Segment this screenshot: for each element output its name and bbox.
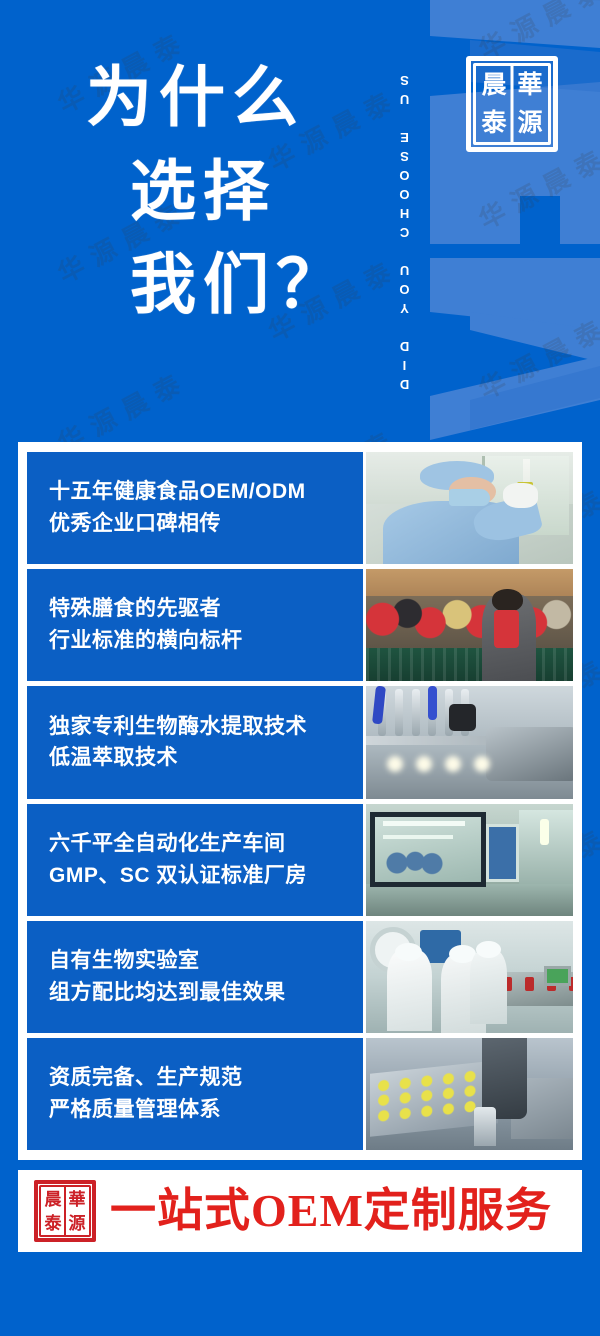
feature-textbox-5: 自有生物实验室 组方配比均达到最佳效果 xyxy=(27,921,363,1033)
photo-filling-line xyxy=(366,686,573,798)
features-panel: 十五年健康食品OEM/ODM 优秀企业口碑相传 特殊膳食的先驱者 行业标准的横向… xyxy=(18,442,582,1160)
feature-textbox-1: 十五年健康食品OEM/ODM 优秀企业口碑相传 xyxy=(27,452,363,564)
feature-textbox-3: 独家专利生物酶水提取技术 低温萃取技术 xyxy=(27,686,363,798)
feature-textbox-2: 特殊膳食的先驱者 行业标准的横向标杆 xyxy=(27,569,363,681)
feature-3-line-1: 独家专利生物酶水提取技术 xyxy=(49,711,341,743)
feature-textbox-4: 六千平全自动化生产车间 GMP、SC 双认证标准厂房 xyxy=(27,804,363,916)
photo-blister-packing xyxy=(366,1038,573,1150)
feature-row-1: 十五年健康食品OEM/ODM 优秀企业口碑相传 xyxy=(27,452,573,564)
feature-4-line-1: 六千平全自动化生产车间 xyxy=(49,828,341,860)
feature-row-4: 六千平全自动化生产车间 GMP、SC 双认证标准厂房 xyxy=(27,804,573,916)
feature-row-5: 自有生物实验室 组方配比均达到最佳效果 xyxy=(27,921,573,1033)
seal-divider xyxy=(511,65,514,143)
photo-lab-technician xyxy=(366,452,573,564)
title-line-3: 我们？ xyxy=(130,239,386,333)
footer-seal-char-bottom-left: 泰 xyxy=(41,1211,65,1235)
footer-seal-divider xyxy=(64,1187,66,1235)
company-seal-logo: 晨 華 泰 源 xyxy=(466,56,558,152)
promotional-poster: 华源晨泰 华源晨泰 华源晨泰 华源晨泰 华源晨泰 华源晨泰 华源晨泰 华源晨泰 … xyxy=(0,0,600,1336)
feature-1-line-2: 优秀企业口碑相传 xyxy=(49,508,341,540)
feature-photo-4 xyxy=(366,804,573,916)
title-line-2: 选择 xyxy=(130,146,386,240)
feature-6-line-2: 严格质量管理体系 xyxy=(49,1094,341,1126)
feature-3-line-2: 低温萃取技术 xyxy=(49,742,341,774)
title-line-1: 为什么 xyxy=(86,52,386,146)
feature-row-6: 资质完备、生产规范 严格质量管理体系 xyxy=(27,1038,573,1150)
page-title: 为什么 选择 我们？ xyxy=(86,52,386,333)
feature-photo-5 xyxy=(366,921,573,1033)
footer-seal-char-top-left: 晨 xyxy=(41,1187,65,1211)
poster-header: 为什么 选择 我们？ DID YOU CHOOSE US 晨 華 泰 源 xyxy=(0,0,600,440)
footer-slogan-text: 一站式OEM定制服务 xyxy=(110,1188,552,1234)
seal-char-top-right: 華 xyxy=(512,66,548,104)
feature-6-line-1: 资质完备、生产规范 xyxy=(49,1062,341,1094)
feature-2-line-1: 特殊膳食的先驱者 xyxy=(49,593,341,625)
feature-2-line-2: 行业标准的横向标杆 xyxy=(49,625,341,657)
photo-technicians-packaging xyxy=(366,921,573,1033)
subtitle-english-vertical: DID YOU CHOOSE US xyxy=(398,69,411,392)
footer-seal-logo: 晨 華 泰 源 xyxy=(34,1180,96,1242)
feature-row-2: 特殊膳食的先驱者 行业标准的横向标杆 xyxy=(27,569,573,681)
seal-char-bottom-left: 泰 xyxy=(476,104,512,142)
photo-conference-audience xyxy=(366,569,573,681)
feature-5-line-1: 自有生物实验室 xyxy=(49,945,341,977)
feature-row-3: 独家专利生物酶水提取技术 低温萃取技术 xyxy=(27,686,573,798)
feature-photo-2 xyxy=(366,569,573,681)
footer-seal-char-bottom-right: 源 xyxy=(65,1211,89,1235)
feature-photo-3 xyxy=(366,686,573,798)
footer-slogan-bar: 晨 華 泰 源 一站式OEM定制服务 xyxy=(18,1170,582,1252)
feature-5-line-2: 组方配比均达到最佳效果 xyxy=(49,977,341,1009)
seal-char-bottom-right: 源 xyxy=(512,104,548,142)
footer-seal-char-top-right: 華 xyxy=(65,1187,89,1211)
feature-1-line-1: 十五年健康食品OEM/ODM xyxy=(49,476,341,508)
feature-photo-1 xyxy=(366,452,573,564)
seal-char-top-left: 晨 xyxy=(476,66,512,104)
photo-cleanroom-corridor xyxy=(366,804,573,916)
feature-photo-6 xyxy=(366,1038,573,1150)
feature-4-line-2: GMP、SC 双认证标准厂房 xyxy=(49,860,341,892)
feature-textbox-6: 资质完备、生产规范 严格质量管理体系 xyxy=(27,1038,363,1150)
